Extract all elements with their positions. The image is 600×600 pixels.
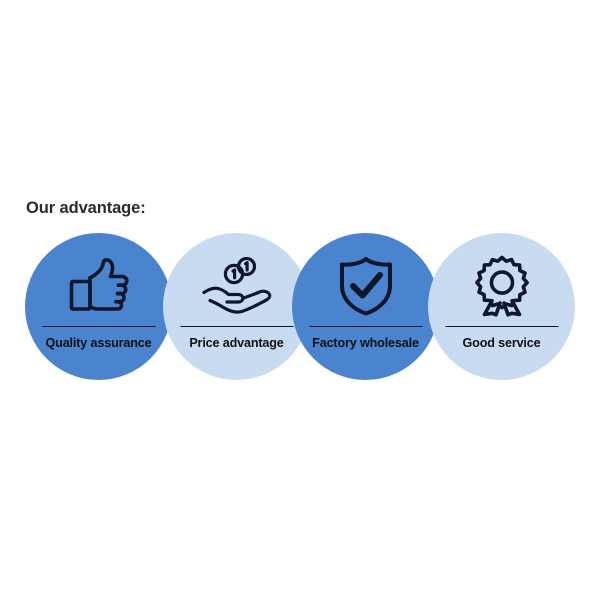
award-ribbon-icon <box>428 255 575 317</box>
divider <box>42 326 155 327</box>
advantage-label: Good service <box>414 336 589 350</box>
shield-check-icon <box>292 255 439 317</box>
divider <box>309 326 422 327</box>
advantage-item-good-service[interactable]: Good service <box>428 233 575 380</box>
divider <box>445 326 558 327</box>
page-title: Our advantage: <box>26 199 146 218</box>
advantage-item-factory-wholesale[interactable]: Factory wholesale <box>292 233 439 380</box>
divider <box>180 326 293 327</box>
thumbs-up-icon <box>25 255 172 317</box>
advantage-circle-row: Quality assurance Price advantage <box>0 233 600 383</box>
advantage-item-quality-assurance[interactable]: Quality assurance <box>25 233 172 380</box>
hand-holding-coins-icon <box>163 255 310 317</box>
our-advantage-section: Our advantage: Quality assurance <box>0 0 600 600</box>
advantage-item-price-advantage[interactable]: Price advantage <box>163 233 310 380</box>
